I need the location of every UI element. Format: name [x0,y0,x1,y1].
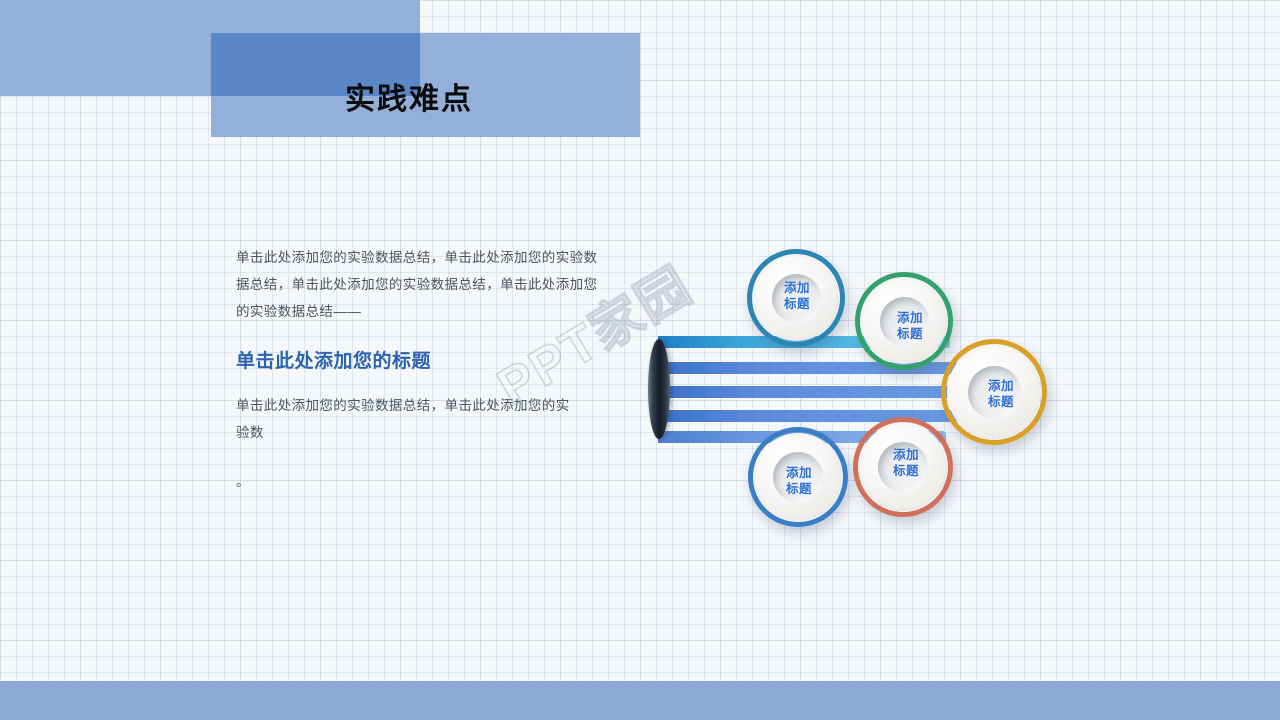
circle-badge-label: 添加 标题 [784,281,810,312]
page-title: 实践难点 [345,85,473,115]
funnel-ray-3 [658,386,964,398]
body-paragraph-2: 单击此处添加您的实验数据总结，单击此处添加您的实 [236,392,600,419]
body-sub-heading: 单击此处添加您的标题 [236,349,600,376]
circle-badge-2[interactable]: 添加 标题 [855,272,953,370]
body-paragraph-1: 单击此处添加您的实验数据总结，单击此处添加您的实验数据总结，单击此处添加您的实验… [236,244,600,325]
circle-badge-label: 添加 标题 [988,379,1014,410]
circle-badge-label: 添加 标题 [893,448,919,479]
circle-badge-3[interactable]: 添加 标题 [941,339,1047,445]
circle-badge-5[interactable]: 添加 标题 [853,417,953,517]
circle-badge-4[interactable]: 添加 标题 [748,427,848,527]
circle-badge-label: 添加 标题 [786,466,812,497]
circle-badge-label: 添加 标题 [897,311,923,342]
presentation-slide: 实践难点 单击此处添加您的实验数据总结，单击此处添加您的实验数据总结，单击此处添… [0,0,1280,720]
footer-band [0,681,1280,720]
body-paragraph-3: 。 [236,468,600,495]
funnel-cylinder-cap [648,339,670,439]
body-paragraph-2-continuation: 验数 [236,419,600,446]
circle-badge-1[interactable]: 添加 标题 [747,249,845,347]
body-text-column: 单击此处添加您的实验数据总结，单击此处添加您的实验数据总结，单击此处添加您的实验… [236,244,600,495]
